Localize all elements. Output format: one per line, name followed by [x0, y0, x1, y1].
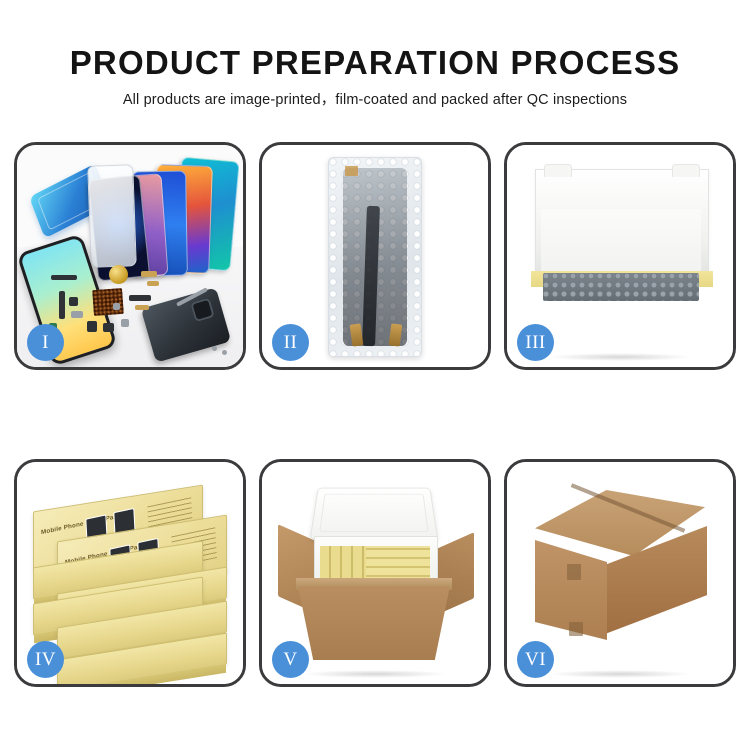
step-badge-3: III — [517, 324, 554, 361]
carton-tape-icon — [567, 564, 581, 580]
drop-shadow — [303, 670, 448, 678]
process-step-panel-1[interactable]: I — [14, 142, 246, 370]
component-icon — [51, 275, 77, 280]
drop-shadow — [548, 670, 693, 678]
chip-grid-icon — [92, 288, 124, 316]
component-icon — [135, 305, 149, 310]
step-badge-6: VI — [517, 641, 554, 678]
screw-icon — [222, 350, 227, 355]
page-title: PRODUCT PREPARATION PROCESS — [0, 0, 750, 82]
process-step-panel-6[interactable]: VI — [504, 459, 736, 687]
box-stack: Mobile Phone Spare Parts Mobile Phone Sp… — [31, 480, 227, 672]
bubble-wrap-bag-icon — [328, 157, 422, 357]
component-icon — [129, 295, 151, 301]
component-icon — [141, 271, 157, 277]
step-badge-4: IV — [27, 641, 64, 678]
page-header: PRODUCT PREPARATION PROCESS All products… — [0, 0, 750, 109]
component-icon — [121, 319, 129, 327]
component-icon — [147, 281, 159, 286]
step-badge-2: II — [272, 324, 309, 361]
step-badge-1: I — [27, 324, 64, 361]
component-icon — [71, 311, 83, 318]
speaker-module-icon — [109, 265, 128, 284]
carton-tape-icon — [569, 622, 583, 636]
process-step-grid: I II III — [14, 142, 736, 687]
process-step-panel-4[interactable]: Mobile Phone Spare Parts Mobile Phone Sp… — [14, 459, 246, 687]
step-badge-5: V — [272, 641, 309, 678]
component-icon — [87, 321, 97, 332]
process-step-panel-2[interactable]: II — [259, 142, 491, 370]
process-step-panel-5[interactable]: V — [259, 459, 491, 687]
component-icon — [103, 323, 114, 332]
glass-protector-icon — [87, 164, 137, 268]
foam-lid-icon — [310, 488, 439, 540]
bubble-wrap-fill-icon — [543, 273, 699, 301]
carton-body-icon — [298, 586, 450, 660]
foam-sheet-icon — [541, 209, 701, 273]
process-step-panel-3[interactable]: III — [504, 142, 736, 370]
tape-icon — [345, 166, 358, 176]
screw-icon — [212, 346, 217, 351]
page-subtitle: All products are image-printed，film-coat… — [0, 82, 750, 109]
drop-shadow — [548, 353, 693, 361]
component-icon — [59, 291, 65, 319]
component-icon — [69, 297, 78, 306]
component-icon — [113, 303, 120, 310]
